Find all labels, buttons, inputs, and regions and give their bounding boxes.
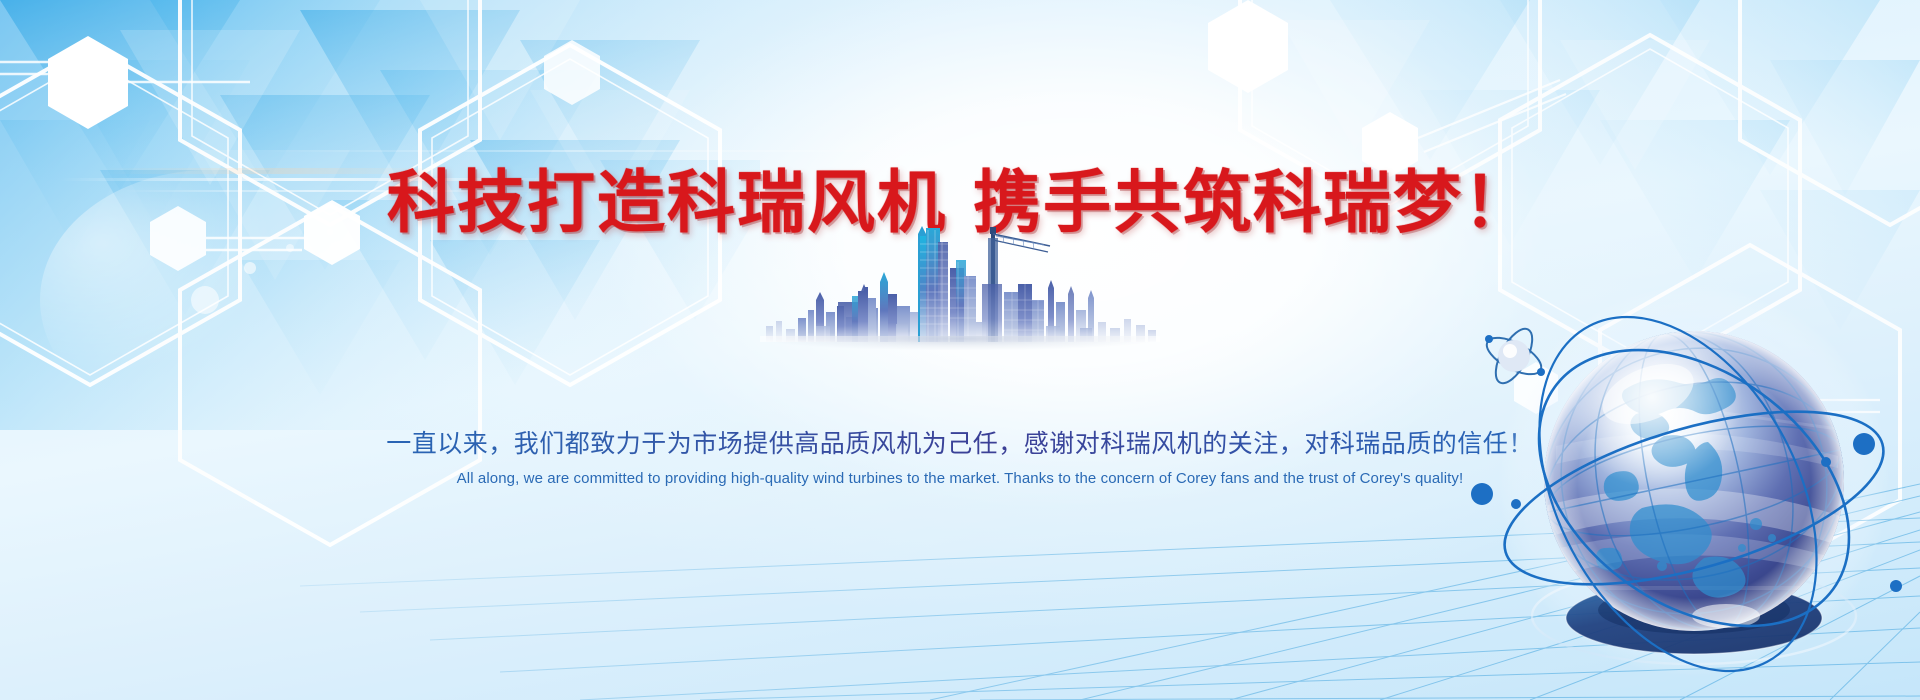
city-skyline-graphic: [760, 222, 1160, 342]
skyline-reflection: [770, 336, 1150, 350]
promo-banner: 科技打造科瑞风机携手共筑科瑞梦！: [0, 0, 1920, 700]
subtitle-english: All along, we are committed to providing…: [0, 470, 1920, 487]
subtitle-chinese: 一直以来，我们都致力于为市场提供高品质风机为己任，感谢对科瑞风机的关注，对科瑞品…: [0, 424, 1920, 460]
skyline-main-tower: [918, 226, 948, 342]
